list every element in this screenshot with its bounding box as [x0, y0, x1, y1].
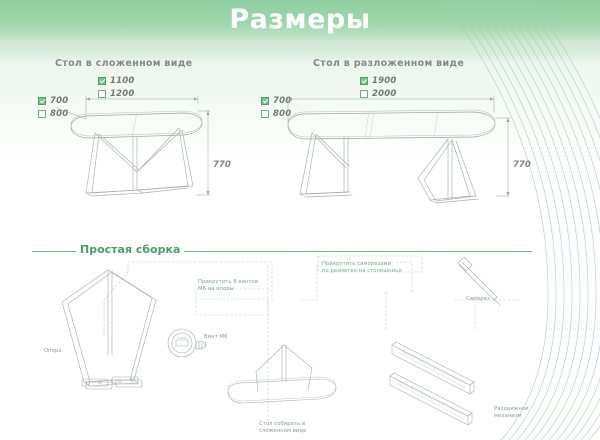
folded-depth-options: 700 800 — [38, 95, 68, 121]
checkbox-empty-icon[interactable] — [38, 110, 46, 118]
option-row[interactable]: 1900 — [360, 75, 396, 86]
divider-left — [32, 251, 76, 252]
callout-support: Опора — [44, 348, 62, 355]
callout-sliding-mechanism: Раздвижной механизм — [494, 406, 529, 420]
option-row[interactable]: 700 — [261, 95, 291, 106]
checkbox-checked-icon[interactable] — [261, 97, 269, 105]
checkbox-checked-icon[interactable] — [98, 77, 106, 85]
option-label: 700 — [273, 96, 291, 106]
assembly-title: Простая сборка — [80, 243, 180, 256]
option-label: 1900 — [372, 76, 396, 86]
callout-self-tapping-screw: Саморез — [466, 296, 490, 303]
option-row[interactable]: 2000 — [360, 88, 396, 99]
page-title: Размеры — [0, 4, 600, 35]
unfolded-height-label: 770 — [513, 160, 531, 170]
checkbox-checked-icon[interactable] — [38, 97, 46, 105]
callout-screw-tabletop: Прикрутить саморезами по разметке на сто… — [322, 261, 402, 275]
unfolded-depth-options: 700 800 — [261, 95, 291, 121]
checkbox-empty-icon[interactable] — [98, 90, 106, 98]
checkbox-empty-icon[interactable] — [360, 90, 368, 98]
callout-bolt: Винт М6 — [204, 334, 227, 341]
option-label: 800 — [273, 109, 291, 119]
option-row[interactable]: 700 — [38, 95, 68, 106]
option-label: 700 — [50, 96, 68, 106]
option-row[interactable]: 800 — [38, 108, 68, 119]
divider-right — [184, 251, 532, 252]
option-label: 1200 — [110, 89, 134, 99]
option-label: 2000 — [372, 89, 396, 99]
option-label: 800 — [50, 109, 68, 119]
option-row[interactable]: 1200 — [98, 88, 134, 99]
infographic-page: Размеры Стол в сложенном виде Стол в раз… — [0, 0, 600, 440]
folded-width-options: 1100 1200 — [98, 75, 134, 101]
folded-height-label: 770 — [213, 160, 231, 170]
checkbox-checked-icon[interactable] — [360, 77, 368, 85]
unfolded-section-title: Стол в разложенном виде — [313, 58, 464, 69]
option-row[interactable]: 1100 — [98, 75, 134, 86]
option-row[interactable]: 800 — [261, 108, 291, 119]
checkbox-empty-icon[interactable] — [261, 110, 269, 118]
callout-screw-supports: Прикрутить 8 винтов М6 на опоры — [198, 279, 258, 293]
option-label: 1100 — [110, 76, 134, 86]
unfolded-width-options: 1900 2000 — [360, 75, 396, 101]
callout-assemble-folded: Стол собирать в сложенном виде — [259, 421, 306, 435]
assembly-section-header: Простая сборка — [32, 243, 532, 259]
folded-section-title: Стол в сложенном виде — [55, 58, 192, 69]
